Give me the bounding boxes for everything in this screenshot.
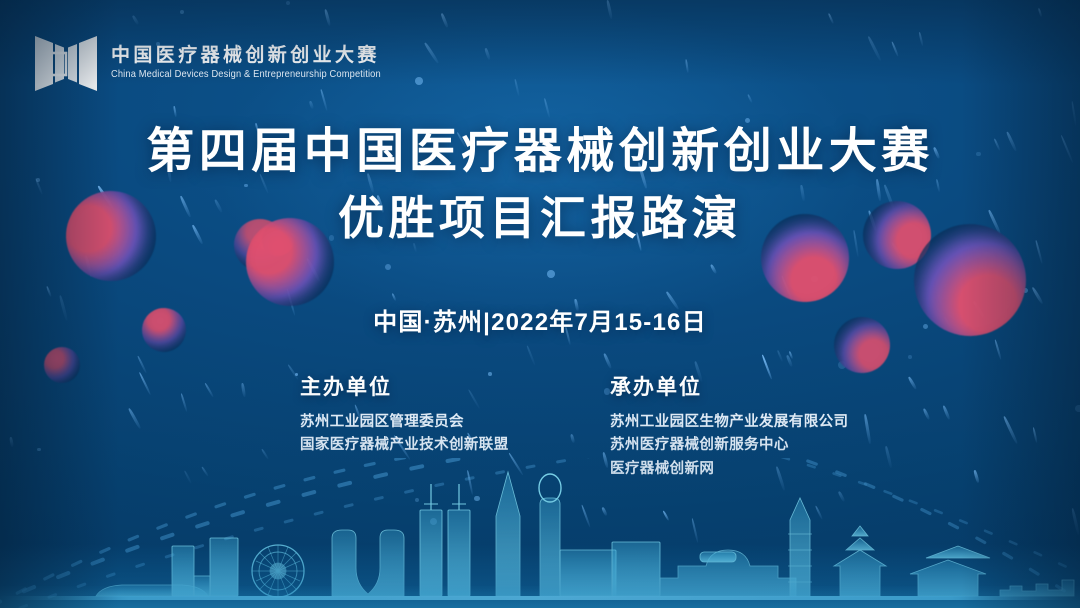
particle-dash bbox=[892, 41, 900, 57]
organizer-group-coorganizer: 承办单位 苏州工业园区生物产业发展有限公司 苏州医疗器械创新服务中心 医疗器械创… bbox=[610, 371, 848, 481]
particle-dash bbox=[606, 0, 613, 19]
particle-dash bbox=[441, 13, 449, 28]
particle-dash bbox=[385, 264, 391, 270]
organizer-entry: 苏州工业园区管理委员会 bbox=[300, 411, 509, 434]
particle-dash bbox=[747, 94, 753, 103]
particle-dash bbox=[391, 292, 396, 300]
particle-dash bbox=[474, 496, 480, 502]
particle-dash bbox=[581, 504, 592, 528]
particle-dash bbox=[777, 351, 783, 362]
particle-dash bbox=[484, 48, 490, 60]
particle-dash bbox=[527, 346, 536, 366]
hero-title-block: 第四届中国医疗器械创新创业大赛 优胜项目汇报路演 bbox=[0, 124, 1080, 245]
organizer-entry: 国家医疗器械产业技术创新联盟 bbox=[300, 434, 509, 457]
particle-dash bbox=[547, 270, 555, 278]
particle-dash bbox=[173, 105, 176, 116]
particle-dash bbox=[1038, 8, 1043, 17]
particle-dash bbox=[46, 286, 52, 297]
particle-dash bbox=[415, 77, 423, 85]
organizer-heading: 主办单位 bbox=[300, 371, 509, 401]
particle-dash bbox=[415, 498, 419, 502]
particle-dash bbox=[309, 100, 314, 109]
particle-dash bbox=[132, 15, 140, 25]
particle-dash bbox=[919, 32, 924, 46]
organizer-entry: 苏州医疗器械创新服务中心 bbox=[610, 434, 848, 457]
particle-dash bbox=[514, 79, 519, 96]
event-poster: 中国医疗器械创新创业大赛 China Medical Devices Desig… bbox=[0, 0, 1080, 608]
particle-dash bbox=[180, 10, 184, 14]
particle-dash bbox=[828, 13, 834, 24]
competition-logo: 中国医疗器械创新创业大赛 China Medical Devices Desig… bbox=[33, 26, 381, 94]
particle-dash bbox=[603, 353, 612, 368]
particle-dash bbox=[710, 264, 718, 274]
particle-dash bbox=[1071, 101, 1077, 126]
organizer-entry: 医疗器械创新网 bbox=[610, 458, 848, 481]
open-door-logo-icon bbox=[33, 26, 99, 94]
hero-title-line2: 优胜项目汇报路演 bbox=[0, 191, 1080, 245]
particle-dash bbox=[908, 355, 912, 359]
particle-dash bbox=[324, 9, 331, 26]
particle-dash bbox=[662, 510, 670, 521]
organizer-entry: 苏州工业园区生物产业发展有限公司 bbox=[610, 411, 848, 434]
organizer-heading: 承办单位 bbox=[610, 371, 848, 401]
particle-dash bbox=[286, 1, 291, 6]
particle-dash bbox=[544, 98, 551, 118]
skyline-baseline bbox=[0, 596, 1080, 600]
event-location-date: 中国·苏州|2022年7月15-16日 bbox=[0, 302, 1080, 337]
particle-dash bbox=[867, 35, 882, 61]
particle-dash bbox=[691, 518, 699, 543]
logo-title-en: China Medical Devices Design & Entrepren… bbox=[111, 68, 381, 79]
particle-dash bbox=[424, 42, 439, 63]
particle-dash bbox=[995, 339, 1003, 360]
logo-title-cn: 中国医疗器械创新创业大赛 bbox=[111, 45, 381, 67]
particle-dash bbox=[745, 118, 750, 123]
particle-dash bbox=[815, 505, 824, 520]
particle-dash bbox=[430, 518, 437, 525]
organizers-block: 主办单位 苏州工业园区管理委员会 国家医疗器械产业技术创新联盟 承办单位 苏州工… bbox=[0, 371, 1080, 481]
particle-dash bbox=[601, 507, 607, 516]
particle-dash bbox=[1071, 508, 1080, 535]
particle-dash bbox=[838, 491, 846, 502]
organizer-group-host: 主办单位 苏州工业园区管理委员会 国家医疗器械产业技术创新联盟 bbox=[300, 371, 509, 458]
hero-title-line1: 第四届中国医疗器械创新创业大赛 bbox=[0, 124, 1080, 181]
particle-dash bbox=[684, 59, 688, 74]
